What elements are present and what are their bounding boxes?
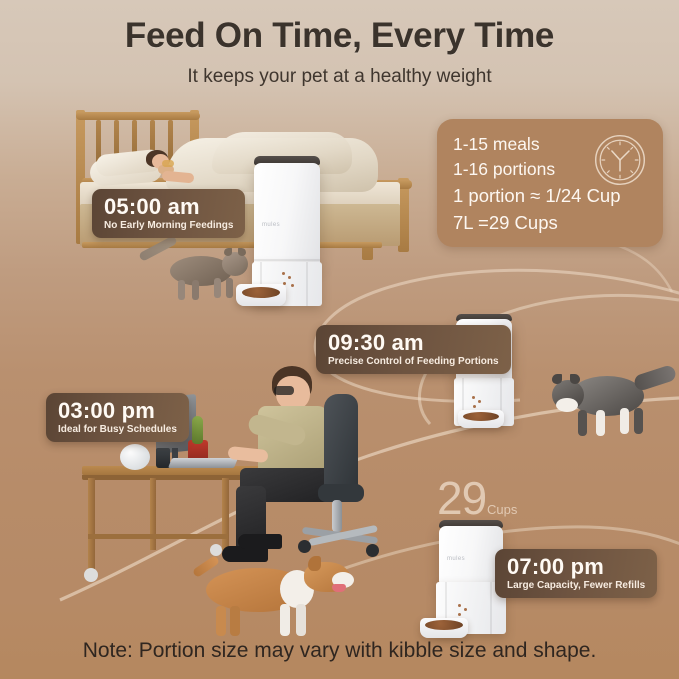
page-subtitle: It keeps your pet at a healthy weight	[0, 66, 679, 88]
time-caption: No Early Morning Feedings	[104, 219, 233, 232]
spec-lines: 1-15 meals 1-16 portions 1 portion ≈ 1/2…	[453, 132, 621, 236]
time-chip-0700: 07:00 pm Large Capacity, Fewer Refills	[495, 549, 657, 598]
pet-feeder-bedroom: mules	[252, 156, 324, 306]
time-label: 03:00 pm	[58, 398, 177, 423]
time-chip-0930: 09:30 am Precise Control of Feeding Port…	[316, 325, 511, 374]
dog	[196, 552, 366, 638]
time-label: 05:00 am	[104, 194, 233, 219]
spec-info-panel: 1-15 meals 1-16 portions 1 portion ≈ 1/2…	[437, 119, 663, 247]
infographic-canvas: mules	[0, 0, 679, 679]
time-chip-0300: 03:00 pm Ideal for Busy Schedules	[46, 393, 189, 442]
footer-note: Note: Portion size may vary with kibble …	[0, 639, 679, 663]
time-caption: Precise Control of Feeding Portions	[328, 355, 499, 368]
time-caption: Ideal for Busy Schedules	[58, 423, 177, 436]
spec-line-capacity: 7L =29 Cups	[453, 209, 621, 236]
time-label: 09:30 am	[328, 330, 499, 355]
capacity-number: 29	[437, 476, 486, 520]
time-label: 07:00 pm	[507, 554, 645, 579]
capacity-badge: 29 Cups	[437, 476, 486, 520]
capacity-unit: Cups	[487, 502, 517, 517]
spec-line-meals: 1-15 meals	[453, 132, 621, 157]
page-title: Feed On Time, Every Time	[0, 16, 679, 56]
spec-line-portions: 1-16 portions	[453, 157, 621, 182]
time-chip-0500: 05:00 am No Early Morning Feedings	[92, 189, 245, 238]
spec-line-portion-cup: 1 portion ≈ 1/24 Cup	[453, 182, 621, 209]
time-caption: Large Capacity, Fewer Refills	[507, 579, 645, 592]
